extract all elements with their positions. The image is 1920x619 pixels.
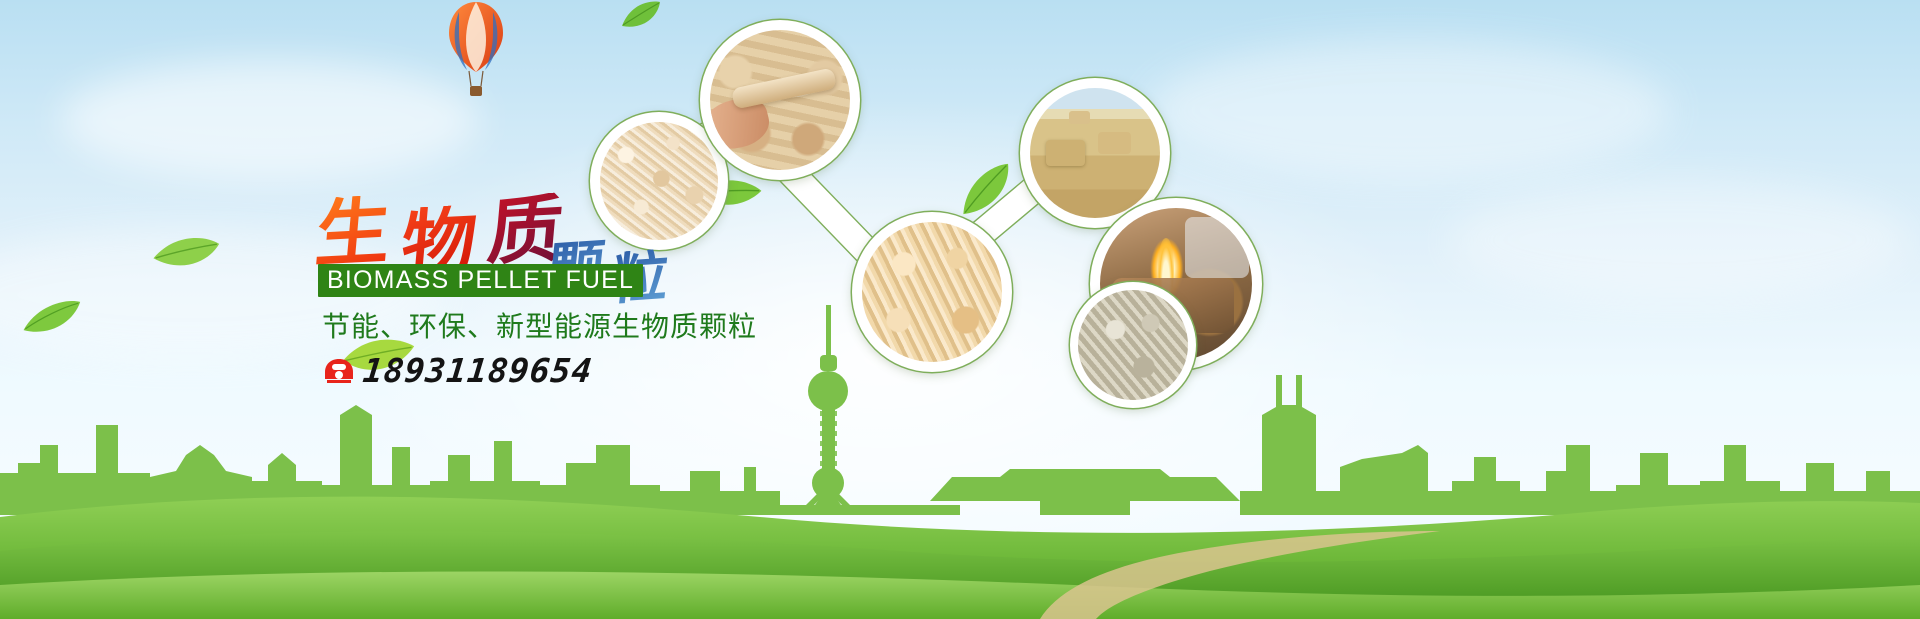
phone-number: 18931189654 (361, 354, 594, 388)
hot-air-balloon-icon (445, 0, 507, 110)
title-char-1: 生 (313, 194, 394, 272)
node-rice-husk[interactable] (1070, 282, 1196, 408)
cloud-1 (60, 60, 480, 180)
rice-husk-photo (1078, 290, 1188, 400)
pellet-photo (710, 30, 850, 170)
phone-row[interactable]: 18931189654 (324, 354, 593, 388)
english-tagline-band: BIOMASS PELLET FUEL (318, 264, 643, 297)
cloud-3 (1450, 180, 1910, 300)
grass-hills (0, 459, 1920, 619)
node-pellet-in-hand[interactable] (700, 20, 860, 180)
subtitle-text: 节能、环保、新型能源生物质颗粒 (322, 310, 757, 344)
biomass-pellet-banner: 生 物 质 颗 粒 BIOMASS PELLET FUEL 节能、环保、新型能源… (0, 0, 1920, 619)
hay-bale-photo (1030, 88, 1160, 218)
english-tagline-text: BIOMASS PELLET FUEL (327, 267, 634, 293)
headline-text-block: 生 物 质 颗 粒 BIOMASS PELLET FUEL 节能、环保、新型能源… (316, 188, 936, 284)
telephone-icon (324, 358, 354, 384)
